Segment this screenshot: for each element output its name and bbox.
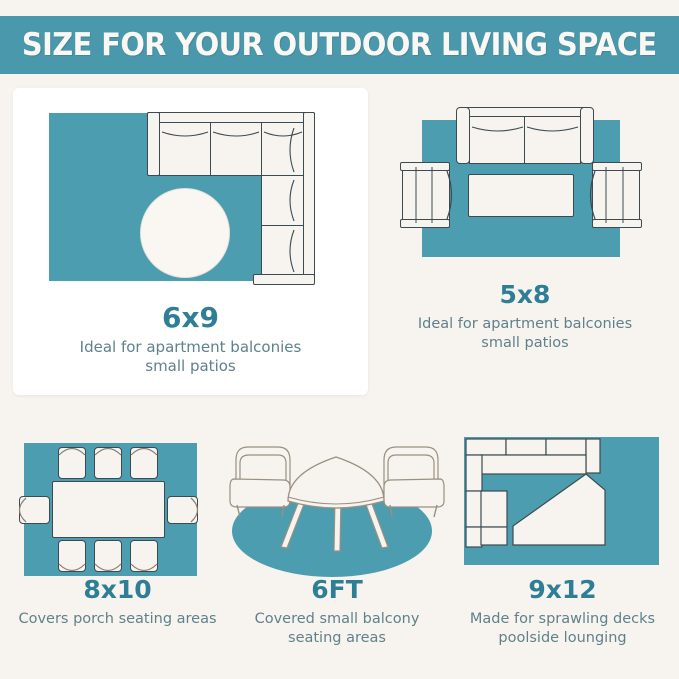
description-line-1: Ideal for apartment balconies: [380, 315, 670, 334]
round-ottoman-6x9: [140, 188, 230, 278]
description-line-1: Ideal for apartment balconies: [13, 338, 368, 357]
description-line-1: Covered small balcony: [222, 610, 452, 629]
description-line-2: poolside lounging: [450, 629, 675, 648]
panel-5x8[interactable]: 5x8 Ideal for apartment balconies small …: [380, 95, 670, 385]
size-label-6ft: 6FT: [222, 575, 452, 605]
description-8x10: Covers porch seating areas: [5, 610, 230, 629]
caption-5x8: 5x8 Ideal for apartment balconies small …: [380, 280, 670, 353]
caption-6ft: 6FT Covered small balcony seating areas: [222, 575, 452, 648]
size-label-6x9: 6x9: [13, 303, 368, 333]
description-line-2: small patios: [13, 357, 368, 376]
description-6x9: Ideal for apartment balconies small pati…: [13, 338, 368, 376]
caption-6x9: 6x9 Ideal for apartment balconies small …: [13, 303, 368, 376]
description-line-2: seating areas: [222, 629, 452, 648]
panel-6x9[interactable]: 6x9 Ideal for apartment balconies small …: [13, 88, 368, 395]
panel-8x10[interactable]: 8x10 Covers porch seating areas: [5, 425, 230, 675]
diagram-6x9: [13, 88, 368, 308]
header-banner: SIZE FOR YOUR OUTDOOR LIVING SPACE: [0, 16, 679, 74]
description-line-1: Made for sprawling decks: [450, 610, 675, 629]
caption-9x12: 9x12 Made for sprawling decks poolside l…: [450, 575, 675, 648]
description-line-2: small patios: [380, 334, 670, 353]
size-label-5x8: 5x8: [380, 280, 670, 310]
diagram-9x12: [450, 425, 675, 585]
size-label-9x12: 9x12: [450, 575, 675, 605]
diagram-6ft: [222, 425, 452, 585]
description-line-1: Covers porch seating areas: [5, 610, 230, 629]
detail-lines-5x8: [380, 95, 670, 290]
description-6ft: Covered small balcony seating areas: [222, 610, 452, 648]
size-label-8x10: 8x10: [5, 575, 230, 605]
description-9x12: Made for sprawling decks poolside loungi…: [450, 610, 675, 648]
panel-6ft[interactable]: 6FT Covered small balcony seating areas: [222, 425, 452, 675]
description-5x8: Ideal for apartment balconies small pati…: [380, 315, 670, 353]
diagram-8x10: [5, 425, 230, 585]
chair-back-arcs-8x10: [5, 425, 230, 585]
infographic-page: SIZE FOR YOUR OUTDOOR LIVING SPACE: [0, 0, 679, 679]
sectional-9x12: [450, 425, 675, 585]
furniture-6ft: [222, 425, 452, 585]
diagram-5x8: [380, 95, 670, 290]
panel-9x12[interactable]: 9x12 Made for sprawling decks poolside l…: [450, 425, 675, 675]
caption-8x10: 8x10 Covers porch seating areas: [5, 575, 230, 629]
page-title: SIZE FOR YOUR OUTDOOR LIVING SPACE: [22, 27, 657, 63]
